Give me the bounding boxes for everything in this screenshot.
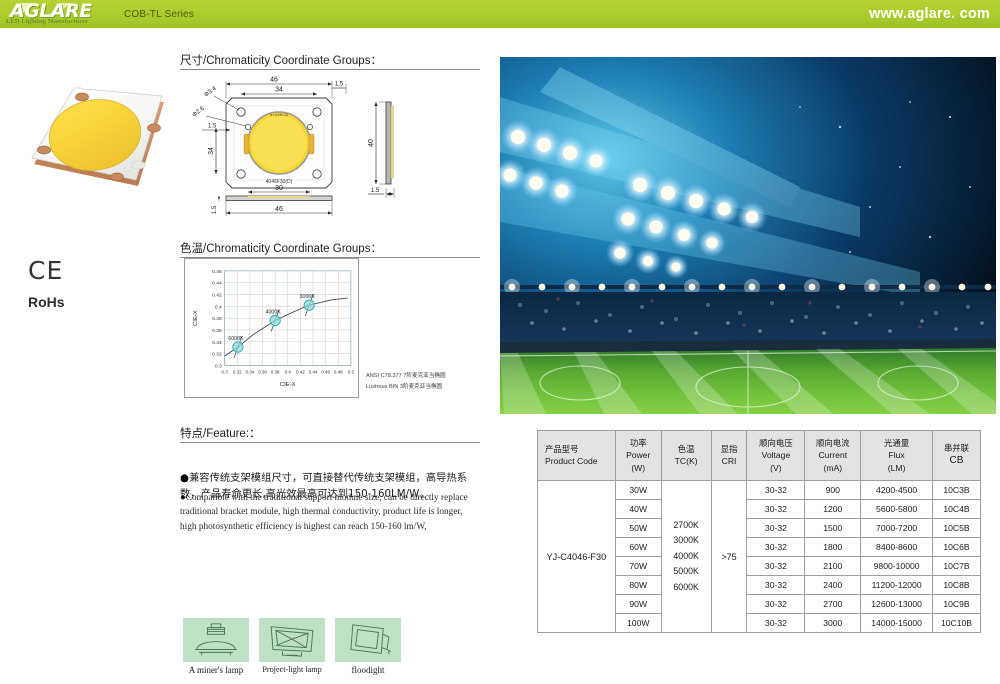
svg-text:46: 46	[275, 206, 283, 213]
svg-text:0.46: 0.46	[212, 269, 222, 275]
features-heading-rule	[180, 442, 480, 443]
cell-flux: 8400-8600	[861, 538, 933, 557]
cell-power: 90W	[615, 595, 661, 614]
cell-voltage: 30-32	[747, 576, 805, 595]
cell-power: 100W	[615, 614, 661, 633]
cell-voltage: 30-32	[747, 557, 805, 576]
application-caption: A miner's lamp	[183, 665, 249, 675]
cell-current: 2700	[805, 595, 861, 614]
cell-product-code: YJ-C4046-F30	[538, 481, 616, 633]
chart-note-line-2: Lustrous BIN 3阶麦克亚当椭圆	[366, 382, 446, 393]
cell-current: 2400	[805, 576, 861, 595]
application-icons: A miner's lamp Project-light lamp floodi…	[183, 618, 401, 675]
ce-mark-icon: CE	[28, 258, 65, 283]
th-power-en: Power	[617, 449, 660, 461]
th-current-cn: 顺向电流	[806, 437, 859, 449]
website-url: www.aglare. com	[869, 6, 990, 22]
th-current-unit: (mA)	[806, 462, 859, 474]
cell-flux: 5600-5800	[861, 500, 933, 519]
chromaticity-chart: 0.30.320.340.360.380.40.420.440.460.30.3…	[184, 258, 359, 398]
th-current: 顺向电流 Current (mA)	[805, 431, 861, 481]
svg-text:0.5: 0.5	[348, 369, 355, 374]
cell-flux: 11200-12000	[861, 576, 933, 595]
th-product-code-en: Product Code	[545, 455, 614, 467]
dimension-drawing: - + 46 34 1.5 Φ3.4 Φ2.6	[186, 70, 486, 220]
cell-cb: 10C8B	[933, 576, 981, 595]
series-title: COB-TL Series	[124, 9, 194, 20]
th-flux-unit: (LM)	[862, 462, 931, 474]
spec-table-container: 产品型号 Product Code 功率 Power (W) 色温 TC(K) …	[537, 430, 981, 633]
cell-flux: 4200-4500	[861, 481, 933, 500]
th-flux: 光通量 Flux (LM)	[861, 431, 933, 481]
th-power-unit: (W)	[617, 462, 660, 474]
cell-current: 1500	[805, 519, 861, 538]
th-voltage-unit: (V)	[748, 462, 803, 474]
cell-power: 40W	[615, 500, 661, 519]
cell-cb: 10C4B	[933, 500, 981, 519]
th-voltage-cn: 顺向电压	[748, 437, 803, 449]
feature-en-body: Compatible with the traditional support …	[180, 493, 468, 532]
th-power-cn: 功率	[617, 437, 660, 449]
cell-cb: 10C10B	[933, 614, 981, 633]
cell-cb: 10C5B	[933, 519, 981, 538]
svg-text:0.4: 0.4	[215, 304, 222, 310]
svg-text:1.5: 1.5	[371, 188, 380, 194]
th-cri-cn: 显指	[713, 443, 746, 455]
cell-voltage: 30-32	[747, 519, 805, 538]
miners-lamp-icon	[183, 618, 249, 662]
svg-text:CIE-X: CIE-X	[193, 310, 199, 326]
svg-text:1.5: 1.5	[335, 82, 344, 88]
brand-logo: AGLARE LED Lighting Manufacturer	[4, 0, 112, 28]
svg-text:Φ2.6: Φ2.6	[192, 105, 207, 118]
cell-color-temps: 2700K3000K4000K5000K6000K	[661, 481, 711, 633]
svg-text:CIE-X: CIE-X	[280, 382, 296, 388]
th-current-en: Current	[806, 449, 859, 461]
cell-cb: 10C6B	[933, 538, 981, 557]
svg-text:4000K: 4000K	[265, 310, 281, 316]
svg-text:0.32: 0.32	[212, 352, 222, 358]
svg-text:34: 34	[208, 147, 215, 155]
th-flux-cn: 光通量	[862, 437, 931, 449]
rohs-mark-label: RoHs	[28, 294, 65, 310]
stadium-floodlight-photo	[500, 57, 996, 414]
th-product-code: 产品型号 Product Code	[538, 431, 616, 481]
cell-power: 70W	[615, 557, 661, 576]
chart-note-line-1: ANSI C78.377 7阶麦克亚当椭圆	[366, 371, 446, 382]
svg-text:0.38: 0.38	[271, 369, 280, 374]
cell-voltage: 30-32	[747, 595, 805, 614]
cell-flux: 12600-13000	[861, 595, 933, 614]
th-cb: 串并联 CB	[933, 431, 981, 481]
svg-text:0.34: 0.34	[212, 340, 222, 346]
application-item: floodight	[335, 618, 401, 675]
svg-text:0.44: 0.44	[309, 369, 318, 374]
table-header-row: 产品型号 Product Code 功率 Power (W) 色温 TC(K) …	[538, 431, 981, 481]
project-light-lamp-icon	[259, 618, 325, 662]
application-caption: Project-light lamp	[259, 665, 325, 674]
floodlight-icon	[335, 618, 401, 662]
cob-led-photo	[18, 68, 190, 198]
svg-text:34: 34	[275, 87, 283, 94]
cell-current: 2100	[805, 557, 861, 576]
cell-cb: 10C9B	[933, 595, 981, 614]
th-color-temp-en: TC(K)	[663, 455, 710, 467]
spec-table: 产品型号 Product Code 功率 Power (W) 色温 TC(K) …	[537, 430, 981, 633]
application-item: Project-light lamp	[259, 618, 325, 675]
cell-current: 1200	[805, 500, 861, 519]
svg-text:+: +	[311, 157, 313, 161]
svg-text:0.4: 0.4	[285, 369, 292, 374]
svg-text:★LUANCAI: ★LUANCAI	[270, 113, 289, 117]
svg-text:0.42: 0.42	[212, 292, 222, 298]
th-cb-cn: 串并联	[934, 442, 979, 454]
svg-text:0.48: 0.48	[334, 369, 343, 374]
cell-cb: 10C3B	[933, 481, 981, 500]
cell-voltage: 30-32	[747, 481, 805, 500]
svg-text:-: -	[244, 157, 245, 161]
svg-text:0.46: 0.46	[321, 369, 330, 374]
page-header: AGLARE LED Lighting Manufacturer COB-TL …	[0, 0, 1000, 28]
th-cri-en: CRI	[713, 455, 746, 467]
svg-text:0.36: 0.36	[212, 328, 222, 334]
th-product-code-cn: 产品型号	[545, 443, 614, 455]
cell-current: 1800	[805, 538, 861, 557]
svg-text:6000K: 6000K	[228, 336, 244, 342]
cell-power: 80W	[615, 576, 661, 595]
cell-flux: 14000-15000	[861, 614, 933, 633]
application-caption: floodight	[335, 665, 401, 675]
svg-text:40: 40	[368, 139, 375, 147]
svg-text:1.5: 1.5	[208, 124, 217, 130]
cell-current: 900	[805, 481, 861, 500]
svg-text:0.42: 0.42	[296, 369, 305, 374]
cell-flux: 9800-10000	[861, 557, 933, 576]
table-row: YJ-C4046-F3030W2700K3000K4000K5000K6000K…	[538, 481, 981, 500]
th-voltage: 顺向电压 Voltage (V)	[747, 431, 805, 481]
certification-marks: CE RoHs	[28, 258, 65, 310]
bullet-icon: ●	[180, 472, 189, 484]
logo-tagline: LED Lighting Manufacturer	[6, 18, 88, 25]
th-cb-en: CB	[934, 454, 979, 469]
svg-text:0.44: 0.44	[212, 281, 222, 287]
cell-voltage: 30-32	[747, 614, 805, 633]
cell-power: 30W	[615, 481, 661, 500]
cell-flux: 7000-7200	[861, 519, 933, 538]
svg-text:1.5: 1.5	[212, 205, 218, 214]
feature-text-en: ●Compatible with the traditional support…	[180, 491, 480, 534]
th-color-temp-cn: 色温	[663, 443, 710, 455]
cell-cb: 10C7B	[933, 557, 981, 576]
svg-text:0.38: 0.38	[212, 316, 222, 322]
cell-cri: >75	[711, 481, 747, 633]
th-voltage-en: Voltage	[748, 449, 803, 461]
svg-text:Φ3.4: Φ3.4	[204, 85, 219, 98]
application-item: A miner's lamp	[183, 618, 249, 675]
svg-text:3000K: 3000K	[300, 294, 316, 300]
cell-current: 3000	[805, 614, 861, 633]
svg-text:0.34: 0.34	[246, 369, 255, 374]
cell-power: 50W	[615, 519, 661, 538]
th-color-temp: 色温 TC(K)	[661, 431, 711, 481]
chart-standard-note: ANSI C78.377 7阶麦克亚当椭圆 Lustrous BIN 3阶麦克亚…	[366, 371, 446, 392]
th-flux-en: Flux	[862, 449, 931, 461]
th-cri: 显指 CRI	[711, 431, 747, 481]
cell-power: 60W	[615, 538, 661, 557]
svg-text:30: 30	[275, 185, 283, 192]
th-power: 功率 Power (W)	[615, 431, 661, 481]
svg-text:0.3: 0.3	[222, 369, 229, 374]
svg-text:0.32: 0.32	[233, 369, 242, 374]
cell-voltage: 30-32	[747, 538, 805, 557]
svg-text:0.36: 0.36	[258, 369, 267, 374]
svg-text:46: 46	[270, 77, 278, 84]
cell-voltage: 30-32	[747, 500, 805, 519]
